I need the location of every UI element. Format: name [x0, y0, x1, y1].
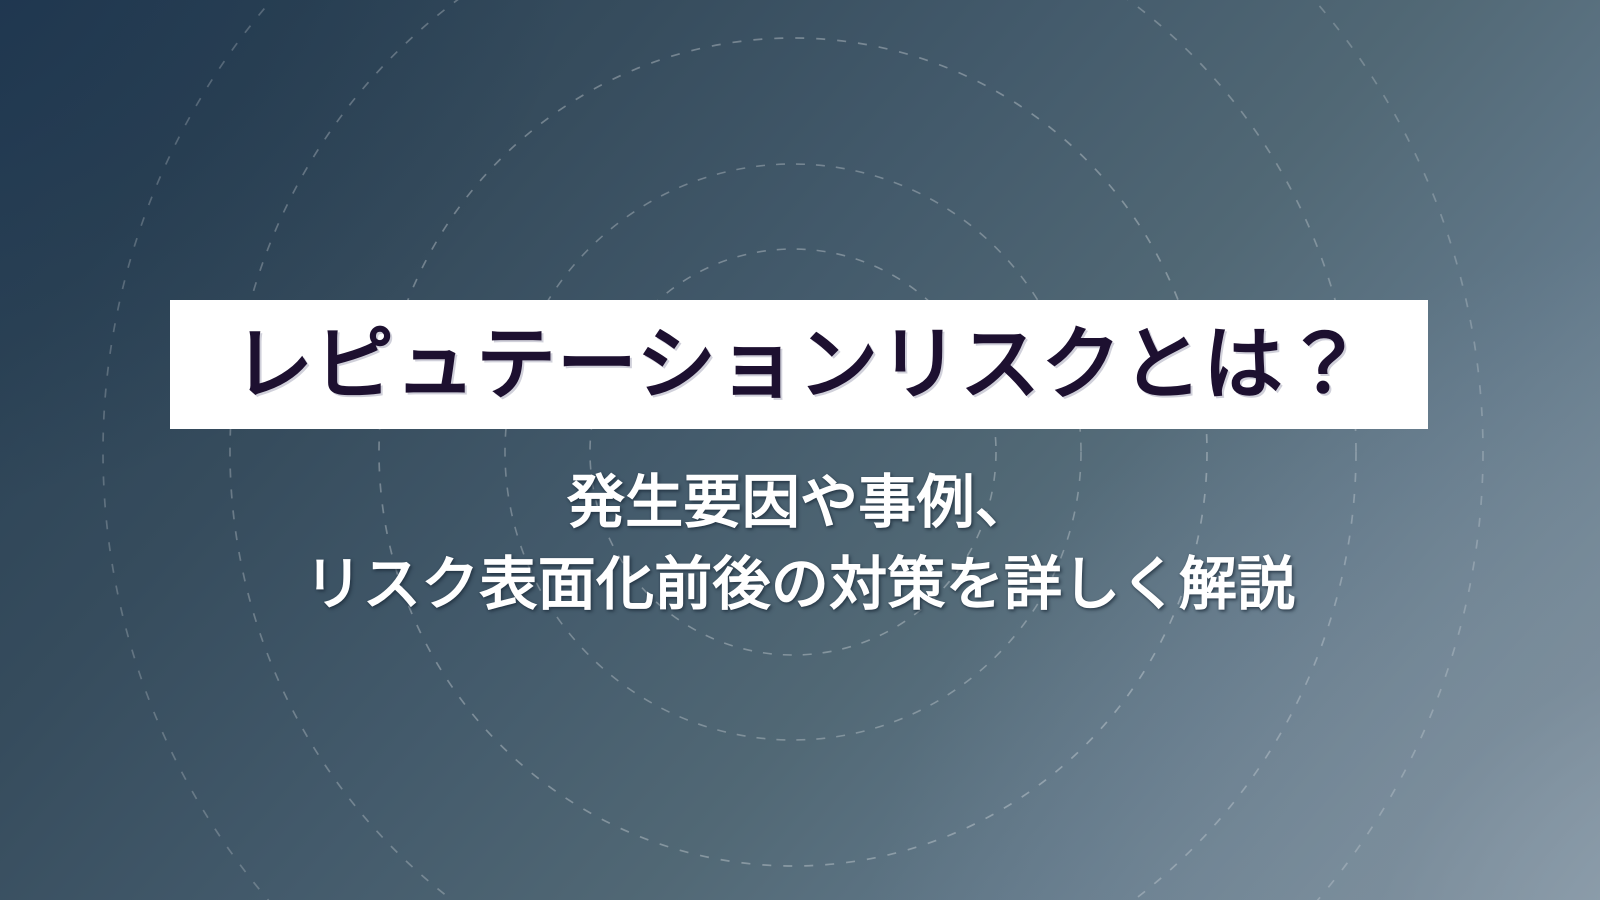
subtitle-line-2: リスク表面化前後の対策を詳しく解説 [0, 544, 1600, 626]
title-band: レピュテーションリスクとは？ [170, 300, 1428, 429]
title-slide: レピュテーションリスクとは？ 発生要因や事例、 リスク表面化前後の対策を詳しく解… [0, 0, 1600, 900]
slide-subtitle: 発生要因や事例、 リスク表面化前後の対策を詳しく解説 [0, 462, 1600, 627]
slide-content: レピュテーションリスクとは？ 発生要因や事例、 リスク表面化前後の対策を詳しく解… [0, 0, 1600, 900]
subtitle-line-1: 発生要因や事例、 [0, 462, 1600, 544]
slide-title: レピュテーションリスクとは？ [233, 325, 1365, 405]
